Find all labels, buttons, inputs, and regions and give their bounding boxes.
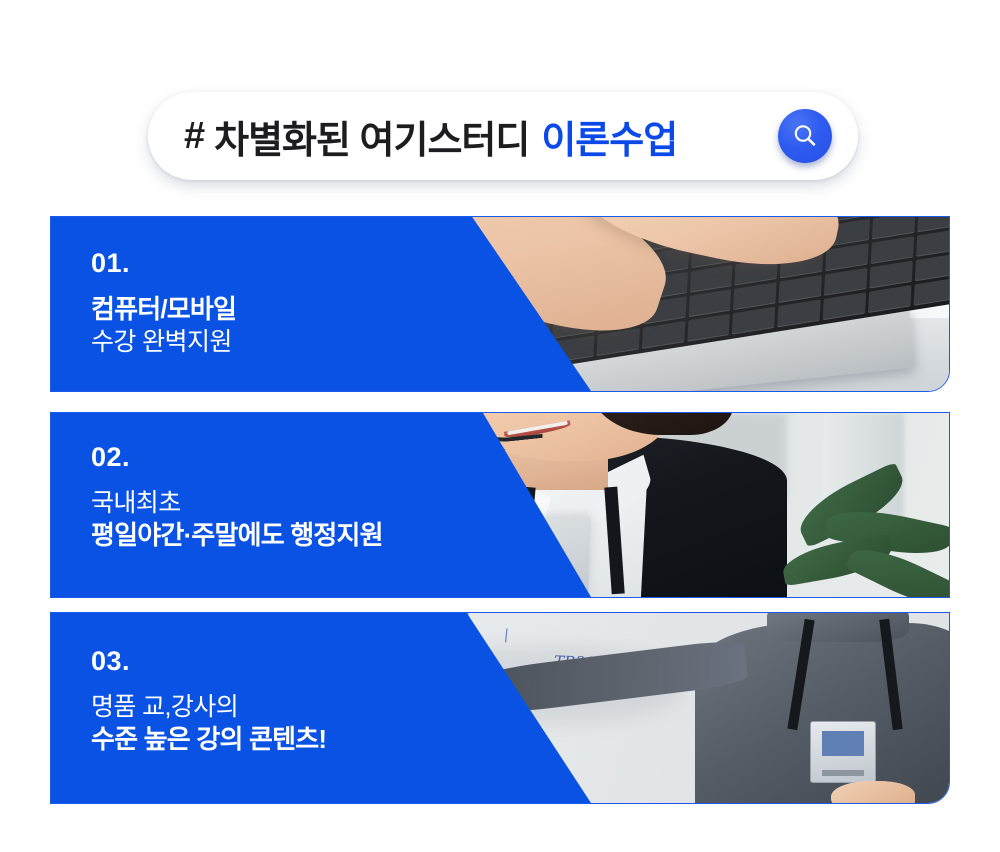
search-bar[interactable]: # 차별화된 여기스터디 이론수업 [148, 92, 858, 180]
search-icon [790, 121, 820, 151]
office-plant [778, 479, 949, 597]
card-3-bold-line: 수준 높은 강의 콘텐츠! [91, 723, 326, 756]
feature-card-2[interactable]: 02. 국내최초 평일야간·주말에도 행정지원 [50, 412, 950, 598]
card-2-regular-line: 국내최초 [91, 487, 383, 519]
card-1-number: 01. [91, 249, 236, 279]
search-button[interactable] [778, 109, 832, 163]
card-1-bold-line: 컴퓨터/모바일 [91, 293, 236, 326]
card-2-bold-line: 평일야간·주말에도 행정지원 [91, 519, 383, 552]
card-1-text-block: 01. 컴퓨터/모바일 수강 완벽지원 [91, 249, 236, 358]
search-bar-main-text: 차별화된 여기스터디 [214, 109, 529, 164]
feature-card-3[interactable]: EM-2 RT81 EM-1 RT83 TR31 CHARACTERISTICS… [50, 612, 950, 804]
card-3-number: 03. [91, 647, 326, 677]
card-3-text-block: 03. 명품 교,강사의 수준 높은 강의 콘텐츠! [91, 647, 326, 756]
card-1-regular-line: 수강 완벽지원 [91, 326, 236, 358]
card-3-regular-line: 명품 교,강사의 [91, 691, 326, 723]
hashtag-symbol: # [184, 115, 204, 158]
search-bar-accent-text: 이론수업 [541, 109, 677, 164]
instructor [644, 613, 949, 803]
search-bar-text: # 차별화된 여기스터디 이론수업 [184, 92, 677, 180]
card-2-text-block: 02. 국내최초 평일야간·주말에도 행정지원 [91, 443, 383, 552]
id-badge [810, 721, 877, 783]
card-2-number: 02. [91, 443, 383, 473]
feature-card-1[interactable]: 01. 컴퓨터/모바일 수강 완벽지원 [50, 216, 950, 392]
